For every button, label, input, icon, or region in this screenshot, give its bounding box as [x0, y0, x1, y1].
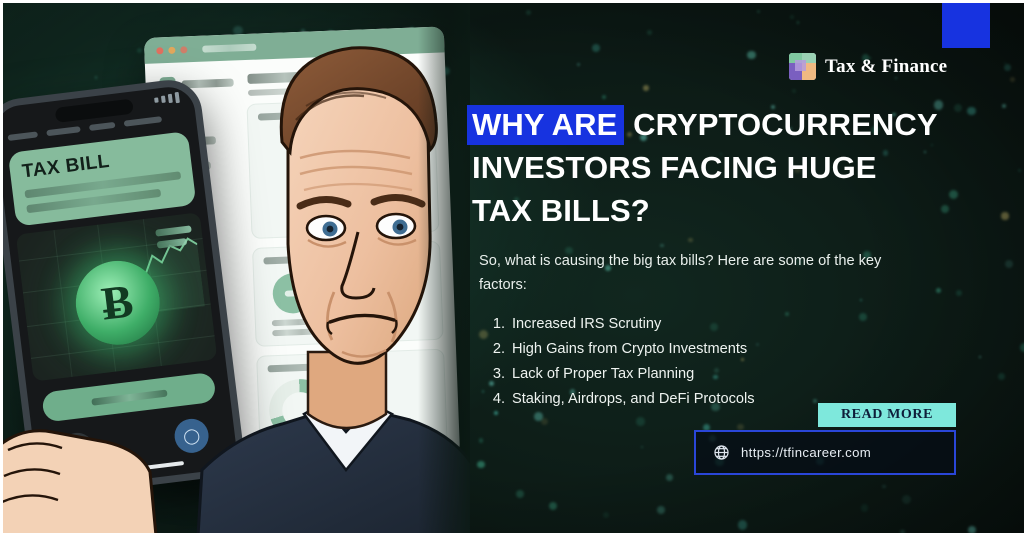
price-labels	[155, 225, 194, 253]
headline: WHY ARE CRYPTOCURRENCY INVESTORS FACING …	[472, 103, 972, 232]
tax-bill-card: TAX BILL	[8, 131, 197, 227]
phone-tab	[46, 126, 80, 136]
poster-canvas: ❯ ❯ ❯ ^	[0, 0, 1024, 536]
list-item-label: Lack of Proper Tax Planning	[512, 362, 694, 387]
phone-tab	[8, 131, 39, 141]
list-item-label: Staking, Airdrops, and DeFi Protocols	[512, 387, 755, 412]
left-artwork: ❯ ❯ ❯ ^	[0, 0, 470, 536]
brand-logo[interactable]: Tax & Finance	[789, 53, 947, 80]
brand-name: Tax & Finance	[825, 56, 947, 78]
website-url-bar[interactable]: https://tfincareer.com	[694, 430, 956, 475]
globe-icon	[713, 444, 730, 461]
list-item-label: High Gains from Crypto Investments	[512, 337, 747, 362]
headline-line-1: WHY ARE CRYPTOCURRENCY	[472, 103, 972, 146]
list-item: 2. High Gains from Crypto Investments	[489, 337, 889, 362]
phone-tab	[89, 122, 116, 131]
list-item-number: 1.	[489, 312, 505, 337]
list-item-label: Increased IRS Scrutiny	[512, 312, 661, 337]
hand-illustration	[0, 300, 230, 536]
headline-line-1-rest: CRYPTOCURRENCY	[633, 107, 938, 142]
list-item-number: 3.	[489, 362, 505, 387]
factors-list: 1. Increased IRS Scrutiny 2. High Gains …	[489, 312, 889, 412]
list-item: 3. Lack of Proper Tax Planning	[489, 362, 889, 387]
colorful-blocks-icon	[789, 53, 816, 80]
list-item: 1. Increased IRS Scrutiny	[489, 312, 889, 337]
list-item-number: 4.	[489, 387, 505, 412]
blue-corner-square	[942, 0, 990, 48]
lede-paragraph: So, what is causing the big tax bills? H…	[479, 249, 911, 297]
headline-line-2: INVESTORS FACING HUGE	[472, 146, 972, 189]
window-dot-yellow	[168, 46, 175, 53]
window-dot-red	[156, 47, 163, 54]
phone-tab	[124, 116, 162, 127]
headline-line-3: TAX BILLS?	[472, 189, 972, 232]
window-dot-orange	[180, 46, 187, 53]
list-item-number: 2.	[489, 337, 505, 362]
artwork-fade-overlay	[418, 0, 470, 536]
website-url-text: https://tfincareer.com	[741, 445, 871, 460]
read-more-button[interactable]: READ MORE	[818, 403, 956, 427]
headline-highlight: WHY ARE	[467, 105, 624, 145]
